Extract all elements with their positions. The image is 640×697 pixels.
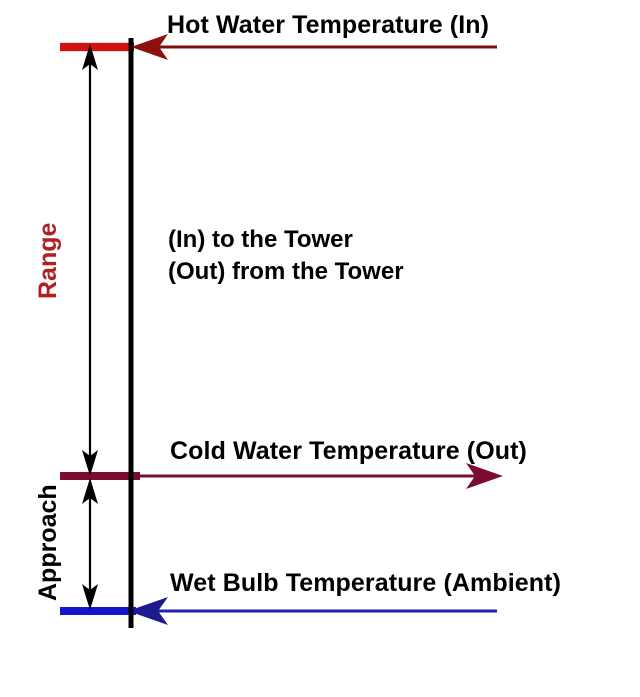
approach-dimension-arrow <box>82 478 98 610</box>
cooling-tower-temperature-diagram: Hot Water Temperature (In) Cold Water Te… <box>0 0 640 697</box>
range-dimension-arrow <box>82 44 98 476</box>
in-out-tower-note: (In) to the Tower (Out) from the Tower <box>168 224 408 289</box>
cold-water-arrow-group <box>60 463 503 489</box>
range-label: Range <box>34 223 63 299</box>
hot-water-temperature-label: Hot Water Temperature (In) <box>167 11 489 39</box>
approach-label: Approach <box>34 484 63 601</box>
wet-bulb-temperature-label: Wet Bulb Temperature (Ambient) <box>170 569 561 597</box>
wet-bulb-arrow-group <box>60 597 497 625</box>
cold-water-temperature-label: Cold Water Temperature (Out) <box>170 437 527 465</box>
